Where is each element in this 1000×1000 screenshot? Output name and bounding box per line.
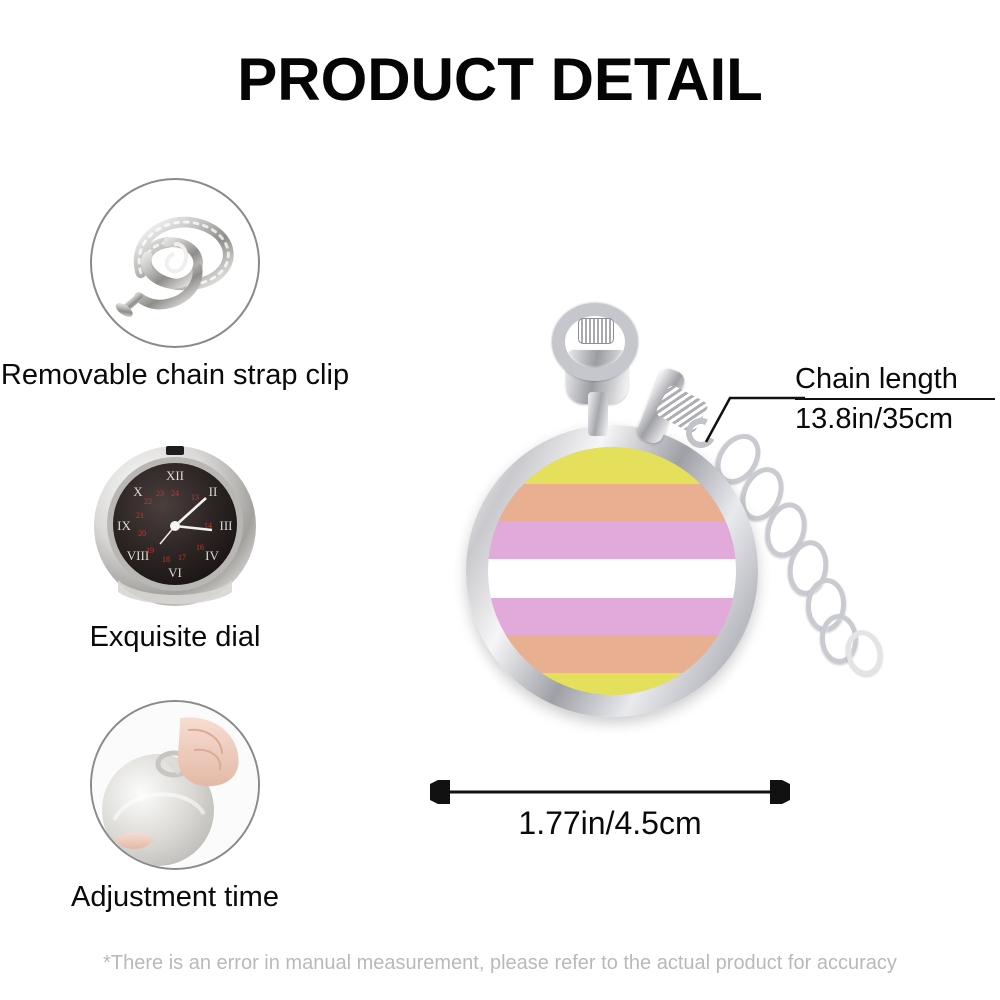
svg-text:24: 24	[171, 489, 179, 498]
feature-exquisite-dial: XII II III IV VI VIII IX X 24 13 14 16 1…	[0, 440, 350, 654]
svg-text:II: II	[209, 484, 218, 499]
svg-text:X: X	[133, 484, 143, 499]
flag-stripe-pink	[488, 521, 736, 558]
chain-length-leader-line	[700, 380, 810, 450]
svg-text:17: 17	[178, 553, 186, 562]
page-title: PRODUCT DETAIL	[0, 45, 1000, 114]
svg-text:21: 21	[136, 511, 144, 520]
pendant-stem	[566, 350, 628, 404]
flag-stripe-orange	[488, 484, 736, 521]
flag-stripe-white	[488, 559, 736, 599]
case-width-value: 1.77in/4.5cm	[430, 805, 790, 842]
feature-removable-chain-strap-clip: Removable chain strap clip	[0, 178, 350, 392]
svg-text:13: 13	[191, 493, 199, 502]
chain-link	[732, 460, 791, 527]
case-width-arrow	[430, 780, 790, 804]
chain-link-end	[841, 626, 887, 679]
svg-text:III: III	[220, 518, 233, 533]
adjustment-thumbnail	[90, 700, 260, 870]
svg-text:IX: IX	[117, 518, 131, 533]
flag-stripe-yellow	[488, 673, 736, 695]
measurement-disclaimer: *There is an error in manual measurement…	[0, 952, 1000, 975]
chain-link	[759, 498, 813, 563]
svg-text:XII: XII	[166, 468, 184, 483]
flag-stripe-orange	[488, 635, 736, 672]
watch-case	[466, 425, 758, 717]
flag-stripe-pink	[488, 598, 736, 635]
spring-chain-clip	[635, 366, 688, 446]
chain-link	[819, 613, 859, 664]
dial-thumbnail: XII II III IV VI VIII IX X 24 13 14 16 1…	[90, 440, 260, 610]
chain-length-annotation: Chain length 13.8in/35cm	[795, 363, 995, 436]
hand-holding-watch-icon	[92, 702, 260, 870]
svg-text:16: 16	[196, 543, 204, 552]
watch-face	[488, 447, 736, 695]
chain-link	[804, 577, 848, 634]
svg-text:18: 18	[162, 555, 170, 564]
svg-text:23: 23	[156, 489, 164, 498]
svg-text:22: 22	[144, 497, 152, 506]
svg-text:20: 20	[138, 529, 146, 538]
feature-label: Removable chain strap clip	[0, 358, 350, 392]
bow-ring	[552, 303, 638, 381]
winding-crown	[578, 318, 614, 344]
svg-text:19: 19	[146, 546, 154, 555]
feature-label: Exquisite dial	[0, 620, 350, 654]
silver-chain-coil-icon	[92, 180, 258, 346]
svg-text:VI: VI	[168, 565, 182, 580]
chain-length-value: 13.8in/35cm	[795, 400, 995, 436]
chain-link	[783, 537, 832, 599]
feature-label: Adjustment time	[0, 880, 350, 914]
flag-stripe-yellow	[488, 447, 736, 484]
feature-adjustment-time: Adjustment time	[0, 700, 350, 914]
chain-length-title: Chain length	[795, 363, 995, 400]
chain-thumbnail	[90, 178, 260, 348]
svg-text:IV: IV	[205, 548, 219, 563]
pendant-neck	[588, 392, 608, 436]
pocket-watch-dial-icon: XII II III IV VI VIII IX X 24 13 14 16 1…	[90, 440, 260, 610]
